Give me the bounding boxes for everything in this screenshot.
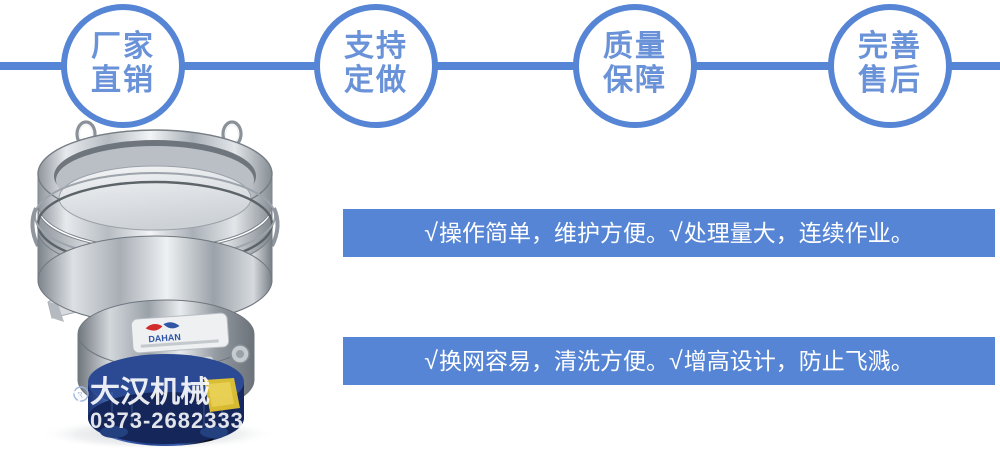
machine-nameplate: DAHAN	[131, 313, 229, 354]
feature-bar-text-1: 换网容易，清洗方便。	[439, 337, 669, 385]
feature-badge-band: 厂家 直销 支持 定做 质量 保障 完善 售后	[0, 0, 1000, 140]
feature-bar-text-1: 操作简单，维护方便。	[439, 209, 669, 257]
check-mark-icon: √	[669, 209, 684, 257]
top-screen-rim	[38, 130, 272, 248]
feature-bar-operation: √操作简单，维护方便。√处理量大，连续作业。	[343, 209, 995, 257]
product-photo-vibrating-sieve: DAHAN	[8, 112, 303, 447]
feature-bar-maintenance: √换网容易，清洗方便。√增高设计，防止飞溅。	[343, 337, 995, 385]
check-mark-icon: √	[424, 209, 439, 257]
check-mark-icon: √	[424, 337, 439, 385]
feature-bar-text-2: 处理量大，连续作业。	[684, 209, 914, 257]
svg-text:R: R	[78, 391, 84, 400]
check-mark-icon: √	[669, 337, 684, 385]
promo-banner-page: 厂家 直销 支持 定做 质量 保障 完善 售后	[0, 0, 1000, 461]
feature-bar-text-2: 增高设计，防止飞溅。	[684, 337, 914, 385]
motor-base-blue: R	[74, 354, 244, 446]
